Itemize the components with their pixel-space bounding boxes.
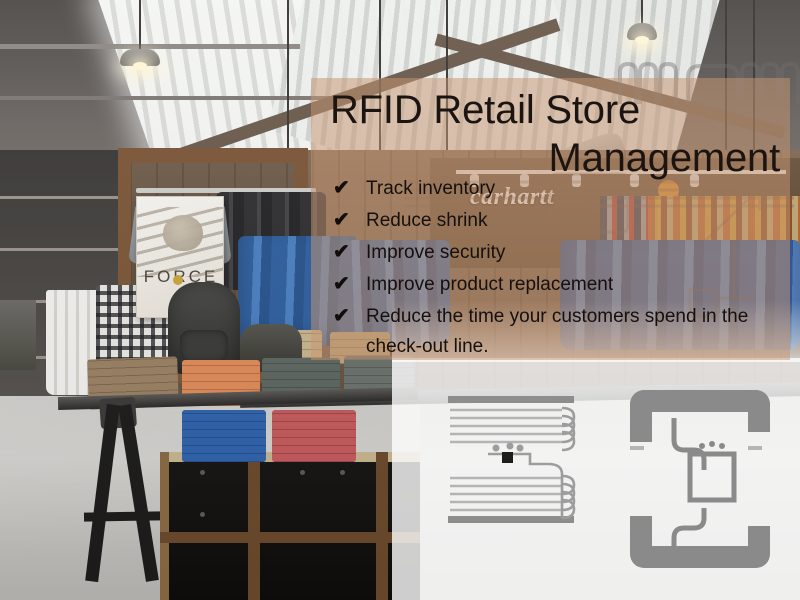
list-item: ✔ Improve product replacement — [333, 270, 773, 300]
shelf — [0, 196, 118, 199]
trunk-rivet — [200, 512, 205, 517]
check-icon: ✔ — [333, 269, 350, 299]
trunk-edge — [160, 452, 169, 600]
rolling-cart — [0, 300, 36, 370]
trunk-strap — [248, 452, 260, 600]
title-line-1: RFID Retail Store — [330, 86, 780, 134]
list-item: ✔ Improve security — [333, 238, 773, 268]
check-icon: ✔ — [333, 173, 350, 203]
list-item-label: Reduce the time your customers spend in … — [366, 306, 748, 357]
trunk-strap — [376, 452, 388, 600]
shelf — [0, 248, 118, 251]
rfid-dipole-tag — [630, 390, 770, 568]
list-item: ✔ Reduce the time your customers spend i… — [333, 302, 773, 362]
check-icon: ✔ — [333, 301, 350, 331]
trunk-rivet — [200, 470, 205, 475]
benefits-list: ✔ Track inventory ✔ Reduce shrink ✔ Impr… — [333, 174, 773, 364]
rfid-coil-tag — [448, 396, 574, 523]
list-item: ✔ Track inventory — [333, 174, 773, 204]
folded-clothing-stack — [182, 410, 266, 462]
page-title: RFID Retail Store Management — [330, 86, 780, 182]
list-item-label: Reduce shrink — [366, 210, 487, 231]
list-item-label: Improve product replacement — [366, 274, 613, 295]
check-icon: ✔ — [333, 205, 350, 235]
list-item: ✔ Reduce shrink — [333, 206, 773, 236]
trunk-rivet — [340, 470, 345, 475]
list-item-label: Improve security — [366, 242, 505, 263]
slide-canvas: carhartt FORCE — [0, 0, 800, 600]
poster-accent-dot — [173, 275, 183, 285]
folded-clothing-stack — [272, 410, 356, 462]
trunk-strap — [160, 532, 420, 543]
check-icon: ✔ — [333, 237, 350, 267]
rfid-tag-graphics — [392, 358, 800, 600]
pendant-lamp — [626, 0, 658, 40]
poster-portrait — [163, 215, 203, 251]
trunk-rivet — [300, 470, 305, 475]
table-crossbar — [84, 511, 162, 521]
pendant-lamp — [120, 0, 160, 66]
list-item-label: Track inventory — [366, 178, 495, 199]
